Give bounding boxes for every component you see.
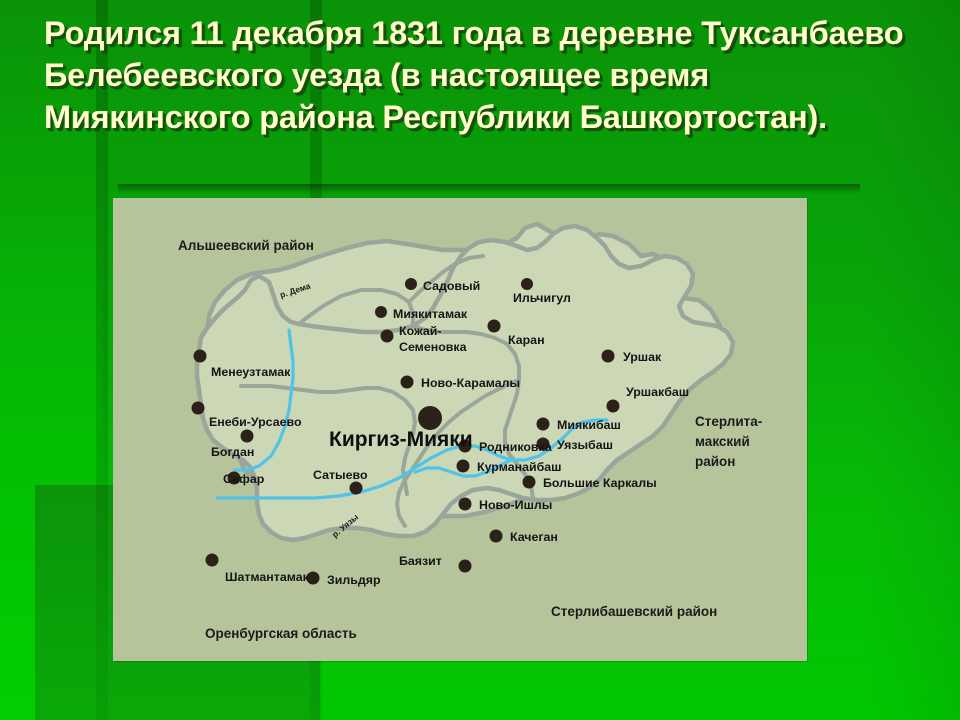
dot-ilchigul bbox=[521, 278, 533, 290]
region-label-sterlitamaksky-line3: район bbox=[695, 454, 735, 469]
dot-urshakbash bbox=[607, 400, 620, 413]
place-label-shatmantamak: Шатмантамак bbox=[225, 570, 310, 584]
dot-satyevo bbox=[350, 482, 363, 495]
place-label-kozhay-line2: Семеновка bbox=[399, 340, 467, 354]
presentation-slide: Родился 11 декабря 1831 года в деревне Т… bbox=[0, 0, 960, 720]
dot-meneuztamak bbox=[194, 350, 207, 363]
place-label-urshakbash: Уршакбаш bbox=[626, 385, 689, 399]
place-label-karan: Каран bbox=[508, 333, 545, 347]
dot-kozhay-semenovka bbox=[381, 330, 394, 343]
map-image: Альшеевский район Стерлита- макский райо… bbox=[113, 198, 807, 661]
dot-novo-ishly bbox=[459, 498, 472, 511]
region-label-alsheevsky: Альшеевский район bbox=[178, 238, 314, 253]
place-label-meneuztamak: Менеузтамак bbox=[211, 365, 291, 379]
dot-karan bbox=[488, 320, 501, 333]
dot-bogdan bbox=[241, 430, 254, 443]
place-label-bogdan: Богдан bbox=[211, 445, 254, 459]
dot-bayazit bbox=[459, 560, 472, 573]
dot-kirgiz-miyaki bbox=[418, 406, 442, 430]
place-label-bayazit: Баязит bbox=[399, 554, 442, 568]
dot-sadovyy bbox=[405, 278, 417, 290]
region-label-sterlibashevsky: Стерлибашевский район bbox=[551, 604, 717, 619]
place-label-enebi-ursaevo: Енеби-Урсаево bbox=[209, 415, 302, 429]
place-label-rodnikovka: Родниковка bbox=[479, 440, 552, 454]
place-label-sadovyy: Садовый bbox=[423, 279, 480, 293]
dot-novo-karamaly bbox=[401, 376, 414, 389]
region-label-orenburgskaya: Оренбургская область bbox=[205, 626, 357, 641]
place-label-zildyar: Зильдяр bbox=[327, 573, 381, 587]
region-label-sterlitamaksky-line1: Стерлита- bbox=[695, 414, 762, 429]
page-title: Родился 11 декабря 1831 года в деревне Т… bbox=[44, 12, 924, 138]
dot-enebi-ursaevo bbox=[192, 402, 205, 415]
place-label-kirgiz-miyaki: Киргиз-Мияки bbox=[329, 428, 473, 451]
place-label-novo-ishly: Ново-Ишлы bbox=[479, 498, 552, 512]
place-label-ilchigul: Ильчигул bbox=[513, 291, 571, 305]
dot-miyakitamak bbox=[375, 306, 387, 318]
place-label-miyakitamak: Миякитамак bbox=[393, 307, 468, 321]
place-label-urshak: Уршак bbox=[623, 350, 662, 364]
place-label-novo-karamaly: Ново-Карамалы bbox=[421, 376, 520, 390]
dot-bolshie-karkaly bbox=[523, 476, 536, 489]
place-label-kurmanaybash: Курманайбаш bbox=[477, 460, 561, 474]
place-label-satyevo: Сатыево bbox=[313, 468, 368, 482]
dot-miyakibash bbox=[537, 418, 550, 431]
place-label-kozhay-line1: Кожай- bbox=[399, 324, 442, 338]
dot-kachegan bbox=[490, 530, 503, 543]
dot-kurmanaybash bbox=[457, 460, 470, 473]
place-label-miyakibash: Миякибаш bbox=[557, 418, 621, 432]
dot-urshak bbox=[602, 350, 615, 363]
place-label-bolshie-karkaly: Большие Каркалы bbox=[543, 476, 657, 490]
place-label-safar: Сафар bbox=[223, 472, 265, 486]
place-label-uyazybash: Уязыбаш bbox=[557, 438, 613, 452]
region-label-sterlitamaksky-line2: макский bbox=[695, 434, 750, 449]
background-horizontal-shadow bbox=[118, 184, 860, 193]
place-label-kachegan: Качеган bbox=[510, 530, 558, 544]
dot-shatmantamak bbox=[206, 554, 219, 567]
